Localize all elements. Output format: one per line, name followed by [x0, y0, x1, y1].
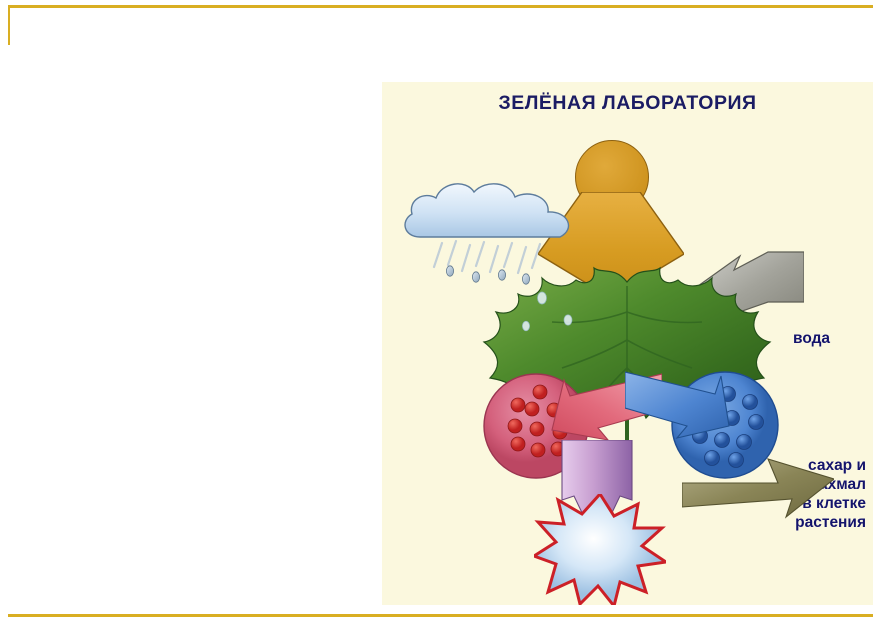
slide-frame: ЗЕЛЁНАЯ ЛАБОРАТОРИЯ	[0, 0, 873, 626]
co2-out-arrow-icon	[682, 457, 834, 519]
left-gold-rule	[8, 5, 10, 45]
energy-star-icon	[534, 494, 666, 605]
top-gold-rule	[8, 5, 873, 8]
photosynthesis-diagram: ЗЕЛЁНАЯ ЛАБОРАТОРИЯ	[382, 82, 873, 605]
bottom-gold-rule	[8, 614, 873, 617]
oxygen-arrow-icon	[625, 368, 733, 440]
diagram-title: ЗЕЛЁНАЯ ЛАБОРАТОРИЯ	[382, 92, 873, 115]
